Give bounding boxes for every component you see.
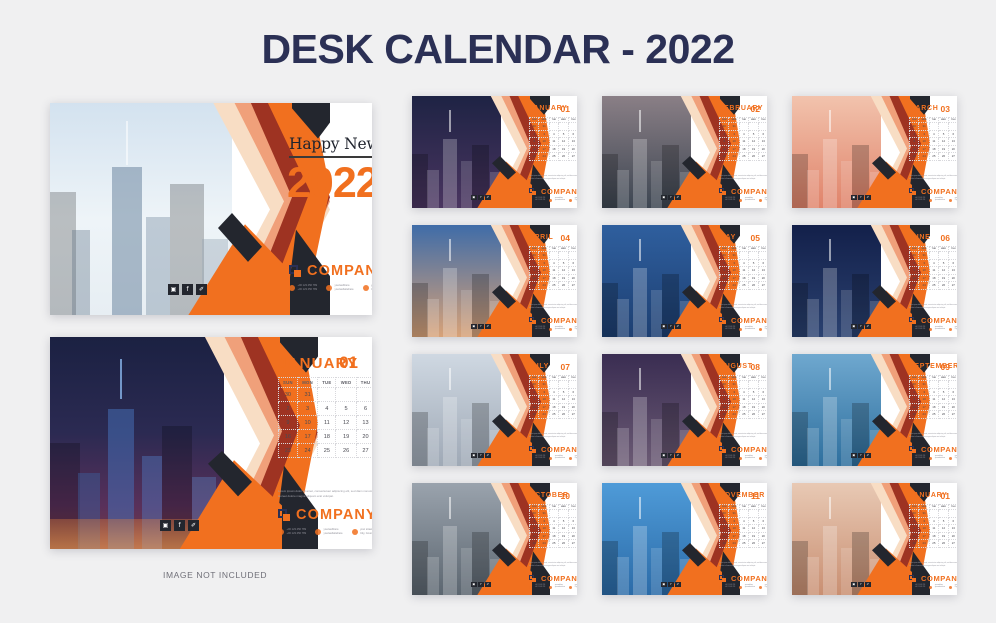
calendar-day-cell[interactable]: 30 [720, 381, 729, 389]
facebook-icon[interactable]: f [668, 195, 674, 201]
calendar-day-cell[interactable]: 11 [739, 267, 748, 275]
calendar-day-cell[interactable]: 9 [720, 267, 729, 275]
thumbnail-social-icons[interactable]: ▣f✐ [471, 453, 491, 459]
calendar-day-cell[interactable]: 5 [558, 388, 568, 396]
calendar-day-cell[interactable]: 2 [720, 517, 729, 525]
calendar-day-cell[interactable]: 30 [720, 510, 729, 518]
calendar-day-cell[interactable]: 27 [949, 282, 957, 290]
thumbnail-calendar-grid[interactable]: SUNMONTUEWEDTHUFRISAT3031123456789101112… [909, 504, 957, 548]
calendar-day-cell[interactable]: 13 [759, 267, 767, 275]
calendar-day-cell[interactable]: 18 [929, 403, 938, 411]
calendar-day-cell[interactable]: 25 [549, 411, 558, 419]
calendar-day-cell[interactable]: 12 [558, 525, 568, 533]
calendar-day-cell[interactable]: 13 [759, 396, 767, 404]
calendar-day-cell[interactable] [558, 123, 568, 131]
calendar-day-cell[interactable]: 27 [949, 411, 957, 419]
calendar-day-cell[interactable]: 10 [729, 525, 739, 533]
calendar-day-cell[interactable]: 30 [720, 123, 729, 131]
calendar-day-cell[interactable]: 20 [759, 532, 767, 540]
calendar-day-cell[interactable]: 31 [539, 123, 549, 131]
calendar-day-cell[interactable]: 26 [558, 153, 568, 161]
calendar-day-cell[interactable]: 26 [336, 444, 356, 458]
calendar-day-cell[interactable]: 26 [748, 282, 758, 290]
calendar-day-cell[interactable]: 3 [539, 517, 549, 525]
calendar-day-cell[interactable]: 31 [729, 510, 739, 518]
calendar-day-cell[interactable]: 20 [569, 532, 577, 540]
thumbnail-calendar-grid[interactable]: SUNMONTUEWEDTHUFRISAT3031123456789101112… [909, 375, 957, 419]
calendar-day-cell[interactable]: 25 [739, 411, 748, 419]
calendar-day-cell[interactable]: 30 [910, 510, 919, 518]
calendar-day-cell[interactable] [748, 252, 758, 260]
instagram-icon[interactable]: ▣ [160, 520, 171, 531]
calendar-day-cell[interactable]: 6 [949, 130, 957, 138]
thumbnail-calendar-grid[interactable]: SUNMONTUEWEDTHUFRISAT3031123456789101112… [719, 117, 767, 161]
instagram-icon[interactable]: ▣ [661, 324, 667, 330]
calendar-day-cell[interactable]: 17 [539, 403, 549, 411]
calendar-day-cell[interactable]: 24 [539, 282, 549, 290]
calendar-day-cell[interactable]: 11 [739, 396, 748, 404]
calendar-day-cell[interactable]: 9 [530, 525, 539, 533]
calendar-day-cell[interactable]: 12 [748, 138, 758, 146]
calendar-day-cell[interactable]: 3 [729, 517, 739, 525]
calendar-day-cell[interactable]: 13 [569, 138, 577, 146]
twitter-icon[interactable]: ✐ [675, 324, 681, 330]
calendar-day-cell[interactable]: 24 [919, 282, 929, 290]
calendar-day-cell[interactable] [759, 123, 767, 131]
calendar-day-cell[interactable]: 4 [549, 517, 558, 525]
calendar-day-cell[interactable]: 27 [759, 411, 767, 419]
calendar-day-cell[interactable]: 12 [336, 416, 356, 430]
calendar-day-cell[interactable]: 2 [910, 130, 919, 138]
calendar-day-cell[interactable]: 24 [729, 411, 739, 419]
calendar-day-cell[interactable]: 24 [919, 411, 929, 419]
calendar-day-cell[interactable]: 17 [539, 274, 549, 282]
calendar-day-cell[interactable]: 11 [549, 267, 558, 275]
twitter-icon[interactable]: ✐ [675, 195, 681, 201]
calendar-day-cell[interactable]: 3 [919, 517, 929, 525]
instagram-icon[interactable]: ▣ [661, 453, 667, 459]
thumbnail-social-icons[interactable]: ▣f✐ [851, 582, 871, 588]
calendar-day-cell[interactable] [569, 123, 577, 131]
calendar-day-cell[interactable]: 25 [929, 411, 938, 419]
calendar-day-cell[interactable]: 16 [910, 274, 919, 282]
calendar-day-cell[interactable]: 31 [919, 123, 929, 131]
calendar-day-cell[interactable]: 3 [919, 388, 929, 396]
cover-card[interactable]: Happy New Year 2022 ▣f✐ COMPANY +00 123 … [50, 103, 372, 315]
calendar-day-cell[interactable]: 13 [949, 525, 957, 533]
calendar-day-cell[interactable]: 4 [549, 388, 558, 396]
calendar-day-cell[interactable]: 3 [539, 259, 549, 267]
calendar-day-cell[interactable] [569, 381, 577, 389]
calendar-day-cell[interactable]: 18 [929, 274, 938, 282]
calendar-day-cell[interactable]: 31 [539, 510, 549, 518]
calendar-day-cell[interactable]: 24 [539, 540, 549, 548]
instagram-icon[interactable]: ▣ [471, 453, 477, 459]
calendar-day-cell[interactable]: 25 [739, 153, 748, 161]
calendar-day-cell[interactable]: 5 [558, 130, 568, 138]
calendar-day-cell[interactable]: 27 [356, 444, 372, 458]
calendar-day-cell[interactable]: 9 [910, 396, 919, 404]
calendar-day-cell[interactable]: 5 [938, 130, 948, 138]
calendar-day-cell[interactable]: 25 [739, 540, 748, 548]
month-thumbnail-march-03[interactable]: MARCH03SUNMONTUEWEDTHUFRISAT303112345678… [792, 96, 957, 208]
calendar-day-cell[interactable]: 10 [729, 396, 739, 404]
month-thumbnail-april-04[interactable]: APRIL04SUNMONTUEWEDTHUFRISAT303112345678… [412, 225, 577, 337]
twitter-icon[interactable]: ✐ [485, 582, 491, 588]
calendar-day-cell[interactable]: 11 [549, 525, 558, 533]
calendar-day-cell[interactable]: 13 [356, 416, 372, 430]
calendar-day-cell[interactable]: 5 [558, 259, 568, 267]
calendar-day-cell[interactable]: 18 [739, 403, 748, 411]
instagram-icon[interactable]: ▣ [168, 284, 179, 295]
calendar-day-cell[interactable]: 20 [569, 145, 577, 153]
month-thumbnail-january-01[interactable]: JANUARY01SUNMONTUEWEDTHUFRISAT3031123456… [412, 96, 577, 208]
calendar-day-cell[interactable] [558, 510, 568, 518]
calendar-day-cell[interactable]: 19 [938, 145, 948, 153]
calendar-day-cell[interactable]: 10 [919, 525, 929, 533]
calendar-day-cell[interactable]: 25 [929, 540, 938, 548]
calendar-day-cell[interactable]: 16 [530, 403, 539, 411]
month-thumbnail-january-01[interactable]: JANUARY01SUNMONTUEWEDTHUFRISAT3031123456… [792, 483, 957, 595]
calendar-day-cell[interactable]: 4 [318, 402, 336, 416]
calendar-day-cell[interactable]: 31 [539, 381, 549, 389]
calendar-day-cell[interactable]: 10 [919, 267, 929, 275]
facebook-icon[interactable]: f [478, 582, 484, 588]
calendar-day-cell[interactable]: 16 [530, 532, 539, 540]
calendar-day-cell[interactable]: 2 [910, 259, 919, 267]
calendar-day-cell[interactable]: 13 [949, 138, 957, 146]
calendar-day-cell[interactable]: 26 [748, 153, 758, 161]
calendar-day-cell[interactable]: 3 [729, 388, 739, 396]
calendar-day-cell[interactable] [938, 123, 948, 131]
calendar-day-cell[interactable]: 4 [739, 130, 748, 138]
twitter-icon[interactable]: ✐ [485, 453, 491, 459]
calendar-day-cell[interactable]: 30 [530, 123, 539, 131]
calendar-day-cell[interactable]: 27 [949, 540, 957, 548]
calendar-day-cell[interactable]: 20 [949, 532, 957, 540]
instagram-icon[interactable]: ▣ [471, 324, 477, 330]
thumbnail-calendar-grid[interactable]: SUNMONTUEWEDTHUFRISAT3031123456789101112… [719, 375, 767, 419]
calendar-day-cell[interactable] [949, 381, 957, 389]
calendar-day-cell[interactable]: 10 [297, 416, 317, 430]
calendar-day-cell[interactable]: 4 [929, 259, 938, 267]
calendar-day-cell[interactable]: 11 [929, 138, 938, 146]
calendar-day-cell[interactable]: 23 [910, 282, 919, 290]
calendar-day-cell[interactable]: 11 [549, 396, 558, 404]
calendar-day-cell[interactable]: 2 [720, 388, 729, 396]
calendar-day-cell[interactable]: 19 [558, 403, 568, 411]
calendar-day-cell[interactable]: 31 [539, 252, 549, 260]
calendar-day-cell[interactable]: 19 [558, 274, 568, 282]
calendar-day-cell[interactable]: 4 [739, 259, 748, 267]
calendar-day-cell[interactable]: 5 [558, 517, 568, 525]
calendar-day-cell[interactable]: 19 [558, 532, 568, 540]
calendar-day-cell[interactable]: 17 [919, 532, 929, 540]
thumbnail-calendar-grid[interactable]: SUNMONTUEWEDTHUFRISAT3031123456789101112… [529, 246, 577, 290]
calendar-day-cell[interactable] [949, 123, 957, 131]
calendar-day-cell[interactable]: 13 [569, 525, 577, 533]
featured-social-icons[interactable]: ▣f✐ [160, 520, 199, 531]
thumbnail-calendar-grid[interactable]: SUNMONTUEWEDTHUFRISAT3031123456789101112… [909, 117, 957, 161]
calendar-day-cell[interactable]: 10 [539, 525, 549, 533]
calendar-day-cell[interactable]: 23 [720, 282, 729, 290]
calendar-day-cell[interactable]: 18 [549, 403, 558, 411]
thumbnail-calendar-grid[interactable]: SUNMONTUEWEDTHUFRISAT3031123456789101112… [909, 246, 957, 290]
calendar-day-cell[interactable]: 5 [336, 402, 356, 416]
calendar-day-cell[interactable] [549, 123, 558, 131]
calendar-day-cell[interactable]: 31 [729, 252, 739, 260]
thumbnail-social-icons[interactable]: ▣f✐ [471, 324, 491, 330]
calendar-day-cell[interactable]: 12 [748, 396, 758, 404]
calendar-day-cell[interactable]: 10 [539, 267, 549, 275]
calendar-day-cell[interactable]: 17 [729, 532, 739, 540]
calendar-day-cell[interactable]: 12 [938, 267, 948, 275]
calendar-day-cell[interactable]: 3 [729, 130, 739, 138]
month-thumbnail-july-07[interactable]: JULY07SUNMONTUEWEDTHUFRISAT3031123456789… [412, 354, 577, 466]
calendar-day-cell[interactable]: 18 [318, 430, 336, 444]
calendar-day-cell[interactable]: 5 [938, 259, 948, 267]
calendar-day-cell[interactable] [739, 510, 748, 518]
calendar-day-cell[interactable] [929, 252, 938, 260]
calendar-day-cell[interactable] [748, 123, 758, 131]
calendar-day-cell[interactable]: 4 [929, 130, 938, 138]
calendar-day-cell[interactable]: 30 [910, 252, 919, 260]
twitter-icon[interactable]: ✐ [188, 520, 199, 531]
calendar-day-cell[interactable]: 2 [530, 259, 539, 267]
calendar-day-cell[interactable]: 9 [530, 138, 539, 146]
calendar-day-cell[interactable]: 5 [748, 388, 758, 396]
calendar-day-cell[interactable]: 13 [949, 267, 957, 275]
calendar-day-cell[interactable]: 16 [720, 403, 729, 411]
calendar-day-cell[interactable]: 26 [558, 411, 568, 419]
calendar-day-cell[interactable]: 19 [748, 145, 758, 153]
thumbnail-social-icons[interactable]: ▣f✐ [851, 195, 871, 201]
calendar-day-cell[interactable]: 3 [539, 388, 549, 396]
calendar-day-cell[interactable]: 11 [318, 416, 336, 430]
calendar-day-cell[interactable]: 13 [569, 396, 577, 404]
calendar-day-cell[interactable]: 20 [949, 403, 957, 411]
calendar-day-cell[interactable]: 12 [558, 138, 568, 146]
calendar-day-cell[interactable]: 25 [549, 540, 558, 548]
calendar-day-cell[interactable]: 10 [729, 267, 739, 275]
calendar-day-cell[interactable]: 26 [938, 411, 948, 419]
calendar-day-cell[interactable]: 26 [938, 540, 948, 548]
calendar-day-cell[interactable]: 13 [569, 267, 577, 275]
instagram-icon[interactable]: ▣ [851, 582, 857, 588]
calendar-day-cell[interactable]: 12 [558, 267, 568, 275]
calendar-day-cell[interactable]: 27 [759, 282, 767, 290]
calendar-day-cell[interactable]: 31 [729, 123, 739, 131]
calendar-day-cell[interactable]: 20 [356, 430, 372, 444]
calendar-day-cell[interactable]: 9 [530, 267, 539, 275]
thumbnail-social-icons[interactable]: ▣f✐ [471, 582, 491, 588]
twitter-icon[interactable]: ✐ [675, 453, 681, 459]
facebook-icon[interactable]: f [668, 453, 674, 459]
calendar-day-cell[interactable]: 30 [279, 388, 298, 402]
calendar-day-cell[interactable] [569, 510, 577, 518]
calendar-day-cell[interactable]: 10 [919, 138, 929, 146]
calendar-day-cell[interactable]: 24 [539, 411, 549, 419]
calendar-day-cell[interactable]: 4 [929, 388, 938, 396]
facebook-icon[interactable]: f [478, 324, 484, 330]
calendar-day-cell[interactable]: 31 [919, 252, 929, 260]
calendar-day-cell[interactable]: 23 [720, 153, 729, 161]
calendar-day-cell[interactable]: 20 [569, 403, 577, 411]
calendar-day-cell[interactable]: 9 [910, 525, 919, 533]
calendar-day-cell[interactable] [336, 388, 356, 402]
calendar-day-cell[interactable] [929, 510, 938, 518]
calendar-day-cell[interactable]: 20 [569, 274, 577, 282]
calendar-day-cell[interactable]: 2 [910, 517, 919, 525]
thumbnail-social-icons[interactable]: ▣f✐ [661, 324, 681, 330]
calendar-day-cell[interactable]: 5 [748, 259, 758, 267]
calendar-day-cell[interactable]: 31 [729, 381, 739, 389]
month-thumbnail-september-09[interactable]: SEPTEMBER09SUNMONTUEWEDTHUFRISAT30311234… [792, 354, 957, 466]
thumbnail-social-icons[interactable]: ▣f✐ [661, 582, 681, 588]
calendar-day-cell[interactable]: 30 [530, 381, 539, 389]
calendar-day-cell[interactable]: 6 [569, 388, 577, 396]
calendar-day-cell[interactable]: 27 [949, 153, 957, 161]
calendar-day-cell[interactable]: 26 [748, 540, 758, 548]
calendar-day-cell[interactable]: 12 [938, 525, 948, 533]
calendar-day-cell[interactable]: 30 [910, 381, 919, 389]
calendar-day-cell[interactable]: 26 [558, 540, 568, 548]
calendar-day-cell[interactable] [549, 510, 558, 518]
calendar-day-cell[interactable]: 9 [720, 525, 729, 533]
calendar-day-cell[interactable]: 12 [748, 267, 758, 275]
calendar-day-cell[interactable]: 23 [910, 540, 919, 548]
calendar-day-cell[interactable]: 6 [356, 402, 372, 416]
featured-month-card[interactable]: JANUARY 01 SUNMONTUEWEDTHUFRISAT30311234… [50, 337, 372, 549]
calendar-day-cell[interactable]: 6 [759, 388, 767, 396]
calendar-day-cell[interactable]: 4 [549, 130, 558, 138]
month-thumbnail-february-02[interactable]: FEBRUARY02SUNMONTUEWEDTHUFRISAT303112345… [602, 96, 767, 208]
calendar-day-cell[interactable]: 10 [919, 396, 929, 404]
twitter-icon[interactable]: ✐ [865, 453, 871, 459]
calendar-day-cell[interactable]: 24 [297, 444, 317, 458]
calendar-day-cell[interactable]: 31 [297, 388, 317, 402]
calendar-day-cell[interactable]: 24 [729, 282, 739, 290]
calendar-day-cell[interactable]: 17 [539, 532, 549, 540]
calendar-day-cell[interactable]: 10 [729, 138, 739, 146]
calendar-day-cell[interactable]: 17 [919, 145, 929, 153]
calendar-day-cell[interactable]: 6 [759, 259, 767, 267]
calendar-day-cell[interactable]: 9 [910, 267, 919, 275]
calendar-day-cell[interactable]: 3 [919, 130, 929, 138]
calendar-day-cell[interactable] [759, 381, 767, 389]
calendar-day-cell[interactable]: 17 [919, 274, 929, 282]
calendar-day-cell[interactable]: 11 [739, 138, 748, 146]
calendar-day-cell[interactable]: 12 [938, 138, 948, 146]
thumbnail-calendar-grid[interactable]: SUNMONTUEWEDTHUFRISAT3031123456789101112… [719, 504, 767, 548]
calendar-day-cell[interactable]: 24 [539, 153, 549, 161]
twitter-icon[interactable]: ✐ [865, 195, 871, 201]
calendar-day-cell[interactable]: 12 [938, 396, 948, 404]
calendar-day-cell[interactable] [759, 252, 767, 260]
calendar-day-cell[interactable]: 13 [949, 396, 957, 404]
calendar-day-cell[interactable]: 5 [748, 517, 758, 525]
twitter-icon[interactable]: ✐ [196, 284, 207, 295]
month-thumbnail-june-06[interactable]: JUNE06SUNMONTUEWEDTHUFRISAT3031123456789… [792, 225, 957, 337]
calendar-day-cell[interactable]: 3 [729, 259, 739, 267]
calendar-day-cell[interactable]: 2 [910, 388, 919, 396]
calendar-day-cell[interactable]: 30 [910, 123, 919, 131]
calendar-day-cell[interactable]: 5 [938, 388, 948, 396]
calendar-day-cell[interactable]: 17 [539, 145, 549, 153]
thumbnail-social-icons[interactable]: ▣f✐ [471, 195, 491, 201]
calendar-day-cell[interactable]: 23 [279, 444, 298, 458]
calendar-day-cell[interactable]: 25 [549, 153, 558, 161]
calendar-day-cell[interactable]: 19 [558, 145, 568, 153]
calendar-day-cell[interactable]: 25 [549, 282, 558, 290]
calendar-day-cell[interactable] [739, 123, 748, 131]
calendar-day-cell[interactable] [949, 252, 957, 260]
calendar-day-cell[interactable]: 19 [748, 274, 758, 282]
calendar-day-cell[interactable]: 17 [297, 430, 317, 444]
calendar-day-cell[interactable]: 16 [910, 532, 919, 540]
calendar-day-cell[interactable]: 6 [949, 259, 957, 267]
calendar-day-cell[interactable]: 19 [938, 403, 948, 411]
calendar-day-cell[interactable]: 25 [739, 282, 748, 290]
calendar-day-cell[interactable]: 11 [739, 525, 748, 533]
calendar-day-cell[interactable]: 30 [530, 510, 539, 518]
calendar-day-cell[interactable]: 27 [569, 411, 577, 419]
calendar-day-cell[interactable]: 4 [929, 517, 938, 525]
calendar-day-cell[interactable]: 9 [279, 416, 298, 430]
calendar-day-cell[interactable] [318, 388, 336, 402]
calendar-day-cell[interactable]: 11 [929, 396, 938, 404]
calendar-day-cell[interactable]: 23 [530, 411, 539, 419]
calendar-day-cell[interactable] [356, 388, 372, 402]
calendar-day-cell[interactable]: 24 [729, 153, 739, 161]
calendar-day-cell[interactable] [938, 381, 948, 389]
calendar-day-cell[interactable]: 27 [569, 282, 577, 290]
calendar-day-cell[interactable]: 16 [530, 274, 539, 282]
calendar-day-cell[interactable]: 18 [929, 145, 938, 153]
calendar-day-cell[interactable]: 27 [759, 540, 767, 548]
calendar-day-cell[interactable]: 18 [929, 532, 938, 540]
month-thumbnail-november-11[interactable]: NOVEMBER11SUNMONTUEWEDTHUFRISAT303112345… [602, 483, 767, 595]
calendar-day-cell[interactable]: 9 [720, 396, 729, 404]
calendar-day-cell[interactable]: 27 [759, 153, 767, 161]
twitter-icon[interactable]: ✐ [485, 195, 491, 201]
calendar-day-cell[interactable] [739, 381, 748, 389]
calendar-day-cell[interactable]: 26 [748, 411, 758, 419]
calendar-day-cell[interactable] [759, 510, 767, 518]
calendar-day-cell[interactable]: 5 [938, 517, 948, 525]
facebook-icon[interactable]: f [858, 195, 864, 201]
calendar-day-cell[interactable]: 23 [530, 282, 539, 290]
featured-calendar-grid[interactable]: SUNMONTUEWEDTHUFRISAT3031123456789101112… [278, 377, 372, 458]
calendar-day-cell[interactable]: 16 [910, 403, 919, 411]
calendar-day-cell[interactable]: 6 [759, 130, 767, 138]
calendar-day-cell[interactable] [558, 252, 568, 260]
calendar-day-cell[interactable]: 18 [549, 145, 558, 153]
calendar-day-cell[interactable]: 19 [938, 532, 948, 540]
calendar-day-cell[interactable]: 4 [739, 388, 748, 396]
calendar-day-cell[interactable]: 19 [938, 274, 948, 282]
instagram-icon[interactable]: ▣ [851, 324, 857, 330]
calendar-day-cell[interactable]: 20 [759, 403, 767, 411]
calendar-day-cell[interactable]: 26 [938, 282, 948, 290]
facebook-icon[interactable]: f [668, 582, 674, 588]
calendar-day-cell[interactable]: 9 [910, 138, 919, 146]
facebook-icon[interactable]: f [668, 324, 674, 330]
calendar-day-cell[interactable]: 6 [569, 517, 577, 525]
calendar-day-cell[interactable]: 26 [558, 282, 568, 290]
calendar-day-cell[interactable] [748, 381, 758, 389]
calendar-day-cell[interactable]: 24 [919, 540, 929, 548]
